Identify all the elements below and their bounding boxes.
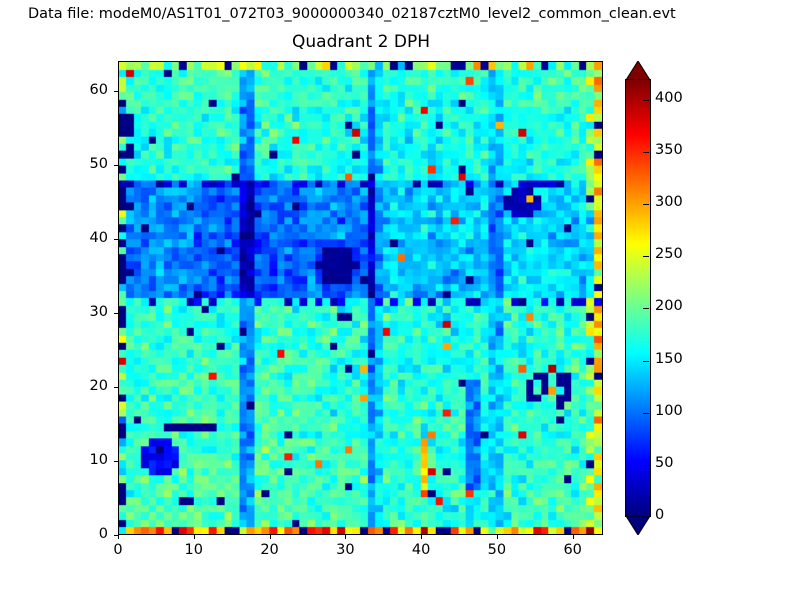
x-axis-tick-label: 40 xyxy=(399,542,443,558)
colorbar: 050100150200250300350400 xyxy=(625,61,651,535)
x-axis-tick xyxy=(421,535,422,539)
x-axis-tick-label: 30 xyxy=(323,542,367,558)
x-axis-tick-label: 60 xyxy=(551,542,595,558)
y-axis-tick-label: 0 xyxy=(64,526,108,542)
heatmap-image xyxy=(119,62,602,534)
y-axis-tick xyxy=(114,91,118,92)
x-axis-tick xyxy=(194,535,195,539)
colorbar-tick-label: 0 xyxy=(655,507,664,523)
colorbar-tick xyxy=(643,413,649,414)
x-axis-tick-label: 0 xyxy=(96,542,140,558)
colorbar-tick-label: 150 xyxy=(655,351,683,367)
colorbar-tick xyxy=(643,517,649,518)
y-axis-tick-label: 40 xyxy=(64,230,108,246)
x-axis-tick xyxy=(118,535,119,539)
y-axis-tick-label: 50 xyxy=(64,156,108,172)
colorbar-tick-label: 100 xyxy=(655,403,683,419)
y-axis-tick xyxy=(114,535,118,536)
colorbar-tick-label: 50 xyxy=(655,455,673,471)
x-axis-tick-label: 50 xyxy=(475,542,519,558)
figure-canvas: Data file: modeM0/AS1T01_072T03_90000003… xyxy=(0,0,800,600)
colorbar-tick-label: 350 xyxy=(655,142,683,158)
y-axis-tick xyxy=(114,387,118,388)
y-axis-tick xyxy=(114,165,118,166)
y-axis-tick xyxy=(114,313,118,314)
colorbar-tick xyxy=(643,204,649,205)
x-axis-tick xyxy=(345,535,346,539)
colorbar-tick-label: 400 xyxy=(655,90,683,106)
heatmap-plot-area xyxy=(118,61,603,535)
x-axis-tick-label: 20 xyxy=(248,542,292,558)
colorbar-tick xyxy=(643,361,649,362)
y-axis-tick xyxy=(114,239,118,240)
colorbar-extend-bottom-arrow xyxy=(625,516,651,535)
data-file-label: Data file: modeM0/AS1T01_072T03_90000003… xyxy=(28,6,676,22)
colorbar-tick-label: 200 xyxy=(655,298,683,314)
y-axis-tick-label: 30 xyxy=(64,304,108,320)
y-axis-tick xyxy=(114,461,118,462)
y-axis-tick-label: 10 xyxy=(64,452,108,468)
x-axis-tick-label: 10 xyxy=(172,542,216,558)
colorbar-tick xyxy=(643,152,649,153)
x-axis-tick xyxy=(573,535,574,539)
x-axis-tick xyxy=(497,535,498,539)
colorbar-tick xyxy=(643,308,649,309)
colorbar-tick-label: 300 xyxy=(655,194,683,210)
colorbar-body xyxy=(625,79,651,517)
colorbar-tick xyxy=(643,465,649,466)
colorbar-extend-top-arrow xyxy=(625,61,651,80)
y-axis-tick-label: 60 xyxy=(64,82,108,98)
colorbar-tick-label: 250 xyxy=(655,246,683,262)
colorbar-tick xyxy=(643,256,649,257)
x-axis-tick xyxy=(270,535,271,539)
y-axis-tick-label: 20 xyxy=(64,378,108,394)
colorbar-gradient xyxy=(626,80,650,516)
colorbar-tick xyxy=(643,100,649,101)
page-title: Quadrant 2 DPH xyxy=(118,32,604,52)
